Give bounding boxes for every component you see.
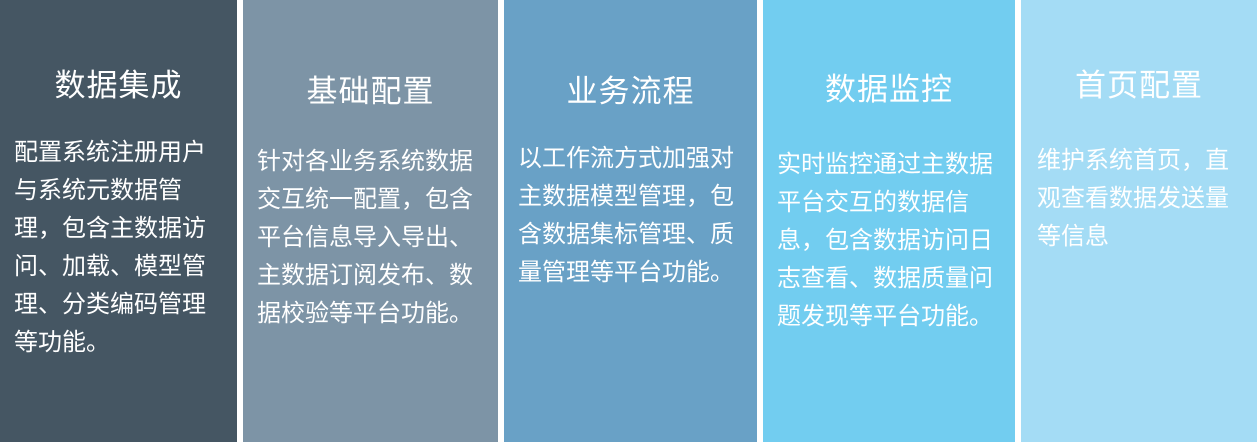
- panel-title: 数据监控: [777, 72, 1001, 108]
- feature-panel-data-integration[interactable]: 数据集成 配置系统注册用户与系统元数据管理，包含主数据访问、加载、模型管理、分类…: [0, 0, 237, 442]
- panel-description: 配置系统注册用户与系统元数据管理，包含主数据访问、加载、模型管理、分类编码管理等…: [14, 134, 223, 362]
- feature-panel-basic-configuration[interactable]: 基础配置 针对各业务系统数据交互统一配置，包含平台信息导入导出、主数据订阅发布、…: [243, 0, 498, 442]
- panel-title: 数据集成: [14, 68, 223, 104]
- panel-title: 基础配置: [257, 74, 484, 110]
- panel-description: 以工作流方式加强对主数据模型管理，包含数据集标管理、质量管理等平台功能。: [518, 140, 743, 292]
- panel-content: 数据集成 配置系统注册用户与系统元数据管理，包含主数据访问、加载、模型管理、分类…: [0, 0, 237, 362]
- feature-panel-homepage-configuration[interactable]: 首页配置 维护系统首页，直观查看数据发送量等信息: [1021, 0, 1257, 442]
- feature-panel-data-monitoring[interactable]: 数据监控 实时监控通过主数据平台交互的数据信息，包含数据访问日志查看、数据质量问…: [763, 0, 1015, 442]
- panel-description: 实时监控通过主数据平台交互的数据信息，包含数据访问日志查看、数据质量问题发现等平…: [777, 146, 1001, 336]
- panel-description: 针对各业务系统数据交互统一配置，包含平台信息导入导出、主数据订阅发布、数据校验等…: [257, 143, 484, 333]
- panel-content: 基础配置 针对各业务系统数据交互统一配置，包含平台信息导入导出、主数据订阅发布、…: [243, 0, 498, 333]
- panel-description: 维护系统首页，直观查看数据发送量等信息: [1037, 142, 1241, 256]
- panel-content: 业务流程 以工作流方式加强对主数据模型管理，包含数据集标管理、质量管理等平台功能…: [504, 0, 757, 292]
- feature-panel-business-process[interactable]: 业务流程 以工作流方式加强对主数据模型管理，包含数据集标管理、质量管理等平台功能…: [504, 0, 757, 442]
- panel-title: 首页配置: [1037, 68, 1241, 104]
- panel-content: 数据监控 实时监控通过主数据平台交互的数据信息，包含数据访问日志查看、数据质量问…: [763, 0, 1015, 336]
- feature-panel-strip: 数据集成 配置系统注册用户与系统元数据管理，包含主数据访问、加载、模型管理、分类…: [0, 0, 1257, 442]
- panel-title: 业务流程: [518, 74, 743, 110]
- panel-content: 首页配置 维护系统首页，直观查看数据发送量等信息: [1021, 0, 1257, 256]
